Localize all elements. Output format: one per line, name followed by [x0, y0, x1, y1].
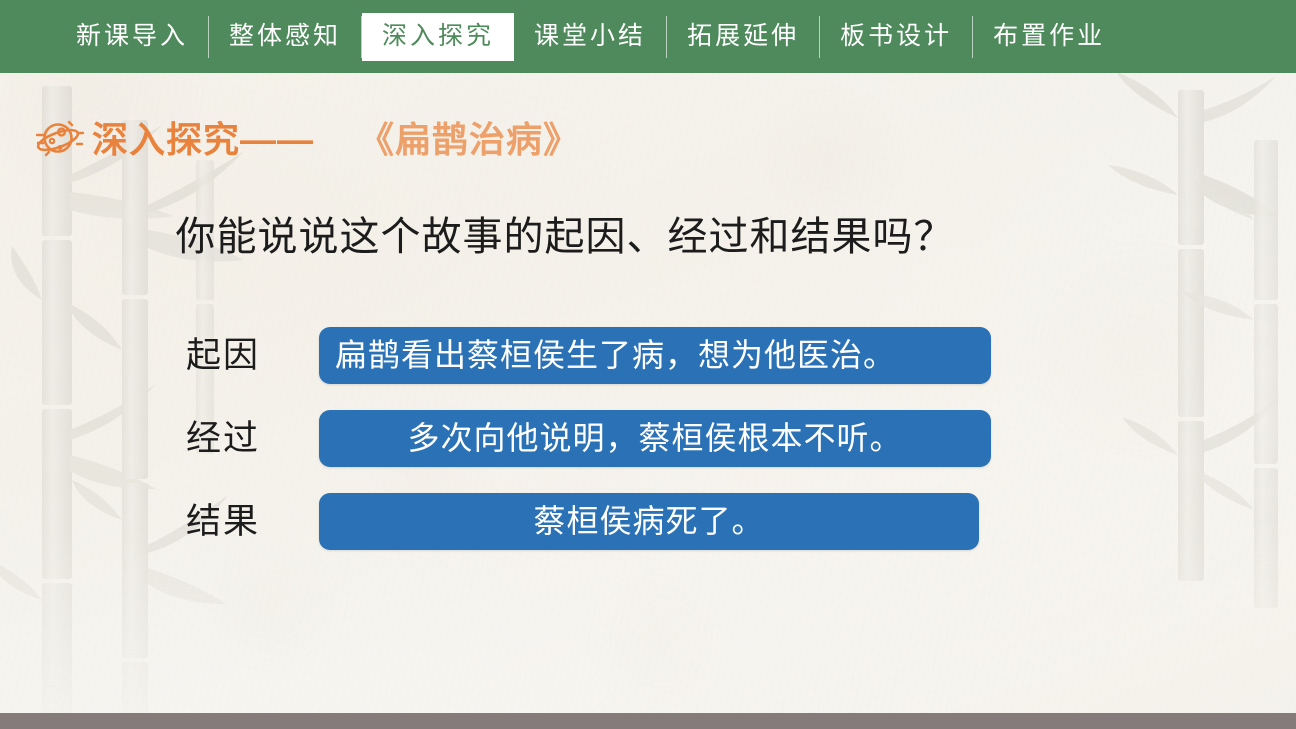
tab-label: 深入探究: [382, 24, 494, 49]
tab-label: 布置作业: [993, 24, 1105, 49]
planet-icon: [28, 116, 86, 164]
tab-shenrutanjiu[interactable]: 深入探究: [362, 13, 514, 61]
tab-label: 板书设计: [840, 24, 952, 49]
row-label: 经过: [186, 421, 296, 456]
tab-label: 新课导入: [76, 24, 188, 49]
heading-main-text: 深入探究——: [92, 122, 314, 158]
question-text: 你能说说这个故事的起因、经过和结果吗？: [0, 212, 1130, 262]
top-navigation-bar: 新课导入 整体感知 深入探究 课堂小结 拓展延伸 板书设计: [0, 0, 1296, 73]
slide-canvas: 新课导入 整体感知 深入探究 课堂小结 拓展延伸 板书设计: [0, 0, 1296, 729]
story-row-cause: 起因 扁鹊看出蔡桓侯生了病，想为他医治。: [0, 324, 1296, 386]
row-content-box[interactable]: 扁鹊看出蔡桓侯生了病，想为他医治。: [319, 327, 991, 384]
row-content-box[interactable]: 蔡桓侯病死了。: [319, 493, 979, 550]
row-content-text: 蔡桓侯病死了。: [533, 505, 764, 537]
row-content-text: 扁鹊看出蔡桓侯生了病，想为他医治。: [335, 339, 896, 371]
story-row-process: 经过 多次向他说明，蔡桓侯根本不听。: [0, 407, 1296, 469]
story-row-result: 结果 蔡桓侯病死了。: [0, 490, 1296, 552]
row-label: 起因: [186, 338, 296, 373]
heading-lesson-title: 《扁鹊治病》: [358, 122, 580, 158]
tab-label: 课堂小结: [534, 24, 646, 49]
tab-tuozhanyanshen[interactable]: 拓展延伸: [667, 13, 819, 61]
row-label: 结果: [186, 504, 296, 539]
row-content-text: 多次向他说明，蔡桓侯根本不听。: [407, 422, 902, 454]
tab-zhengtiganzhi[interactable]: 整体感知: [209, 13, 361, 61]
tab-ketangxiaojie[interactable]: 课堂小结: [514, 13, 666, 61]
nav-tab-list: 新课导入 整体感知 深入探究 课堂小结 拓展延伸 板书设计: [56, 13, 1125, 61]
tab-label: 拓展延伸: [687, 24, 799, 49]
tab-banshushejii[interactable]: 板书设计: [820, 13, 972, 61]
row-content-box[interactable]: 多次向他说明，蔡桓侯根本不听。: [319, 410, 991, 467]
story-structure-list: 起因 扁鹊看出蔡桓侯生了病，想为他医治。 经过 多次向他说明，蔡桓侯根本不听。 …: [0, 324, 1296, 573]
section-heading: 深入探究—— 《扁鹊治病》: [28, 116, 580, 164]
tab-label: 整体感知: [229, 24, 341, 49]
tab-buzhizuoye[interactable]: 布置作业: [973, 13, 1125, 61]
bottom-status-bar: [0, 713, 1296, 729]
tab-xinkedaoru[interactable]: 新课导入: [56, 13, 208, 61]
